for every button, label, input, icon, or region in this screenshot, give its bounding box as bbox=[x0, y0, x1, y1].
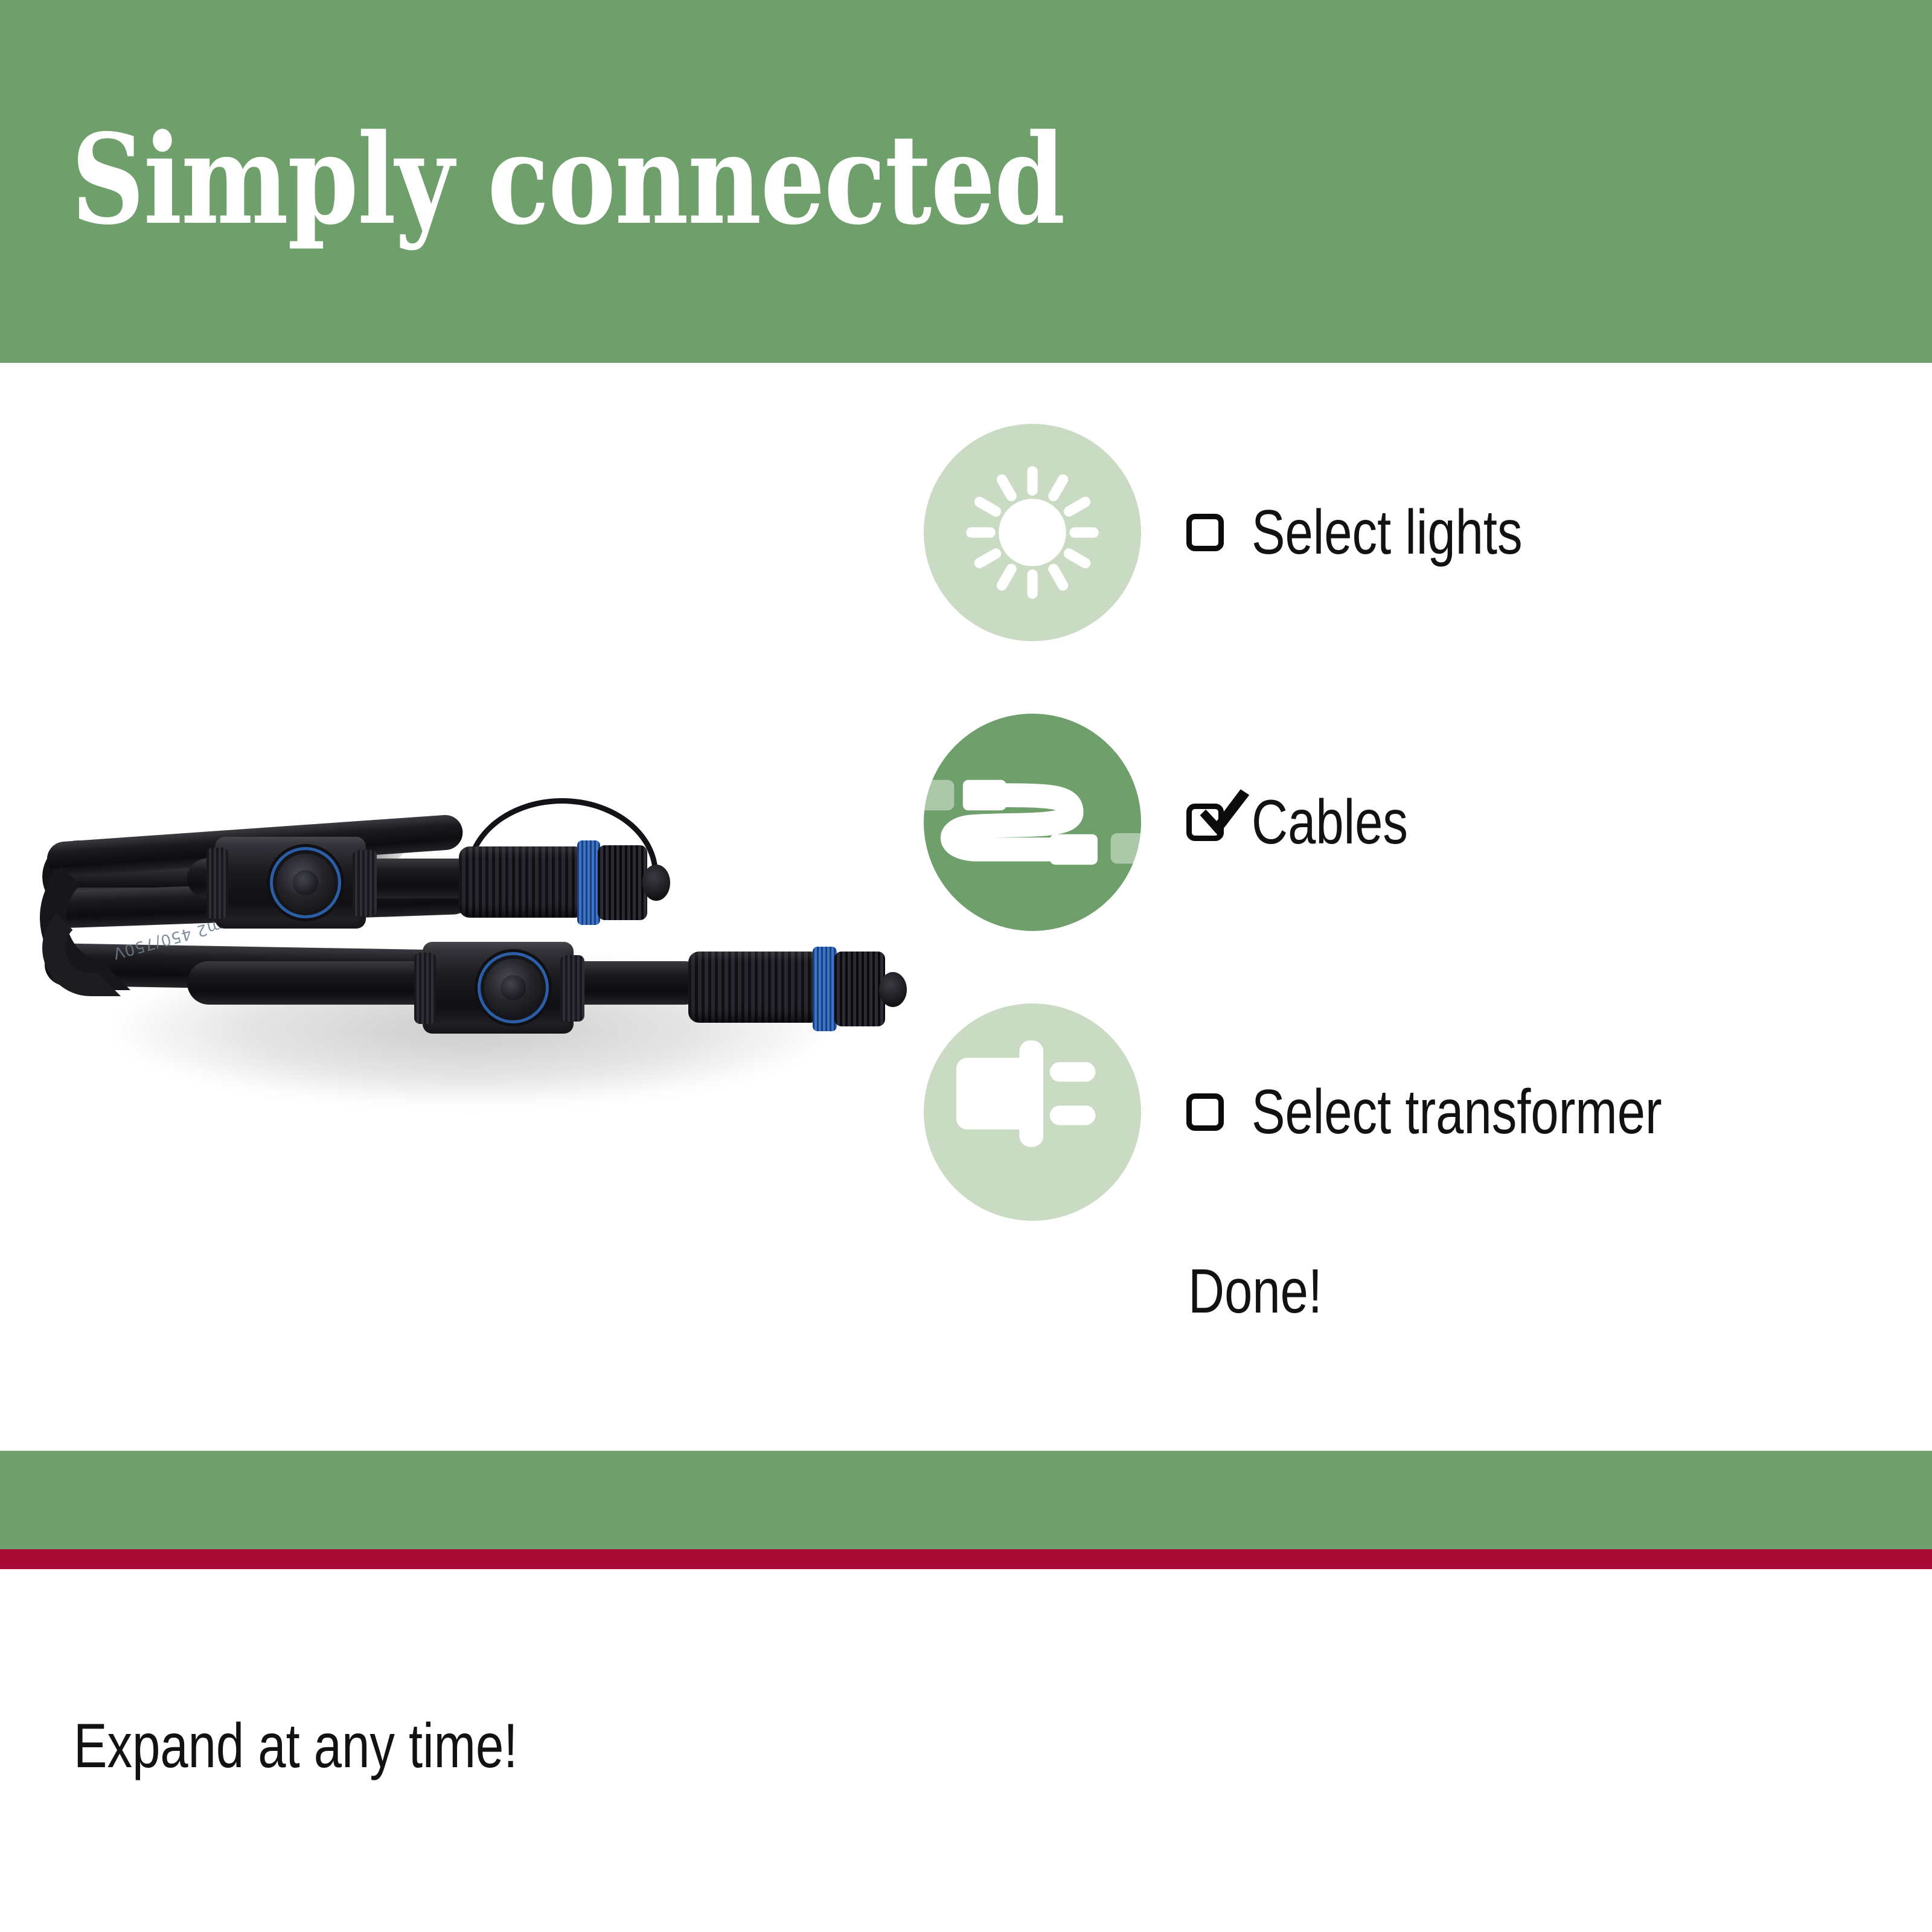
checklist-label-cables: Cables bbox=[1252, 791, 1408, 854]
footer-green-band bbox=[0, 1451, 1932, 1549]
done-label: Done! bbox=[1188, 1260, 1322, 1323]
cable-plug-blue-ring-lower bbox=[813, 947, 837, 1031]
header-band: Simply connected bbox=[0, 0, 1932, 363]
cable-plug-body-lower bbox=[688, 952, 821, 1023]
sun-icon bbox=[924, 424, 1141, 641]
checklist-row-select-lights[interactable]: Select lights bbox=[924, 424, 1829, 641]
cable-junction-dial-lower bbox=[484, 959, 542, 1017]
checkbox-select-transformer[interactable] bbox=[1186, 1093, 1224, 1131]
checklist-row-cables[interactable]: Cables bbox=[924, 714, 1829, 931]
cable-plug-tip-lower bbox=[879, 972, 907, 1007]
sun-icon-circle bbox=[924, 424, 1141, 641]
checklist-label-select-lights: Select lights bbox=[1252, 501, 1523, 564]
cable-plug-cap-lower bbox=[834, 952, 885, 1026]
checklist-row-text: Select transformer bbox=[1186, 1081, 1765, 1144]
checklist-label-select-transformer: Select transformer bbox=[1252, 1081, 1662, 1144]
page-title: Simply connected bbox=[71, 118, 1064, 242]
cable-plug-tip-upper bbox=[642, 865, 670, 901]
cable-icon-circle bbox=[924, 714, 1141, 931]
product-photo: H05RN-F 2x1,5mm2 450/750V bbox=[36, 803, 906, 1141]
cable-plug-blue-ring-upper bbox=[577, 840, 600, 925]
checklist-row-select-transformer[interactable]: Select transformer bbox=[924, 1003, 1829, 1221]
checklist-row-text: Cables bbox=[1186, 791, 1447, 854]
footer-tagline: Expand at any time! bbox=[74, 1715, 517, 1777]
footer-red-band bbox=[0, 1549, 1932, 1569]
cable-junction-collar-upper-right bbox=[353, 850, 377, 916]
checkmark-icon bbox=[1187, 778, 1259, 850]
cable-plug-cap-upper bbox=[598, 845, 647, 920]
cable-junction-dial-upper bbox=[277, 854, 334, 912]
plug-icon bbox=[924, 1003, 1141, 1221]
checklist-row-text: Select lights bbox=[1186, 501, 1590, 564]
checkbox-cables[interactable] bbox=[1186, 804, 1224, 841]
cable-junction-collar-upper-left bbox=[206, 848, 228, 919]
checkbox-select-lights[interactable] bbox=[1186, 514, 1224, 551]
cable-junction-collar-lower-left bbox=[414, 953, 436, 1024]
cable-icon bbox=[924, 714, 1141, 931]
cable-junction-collar-lower-right bbox=[560, 955, 584, 1022]
cable-plug-body-upper bbox=[459, 846, 586, 918]
plug-icon-circle bbox=[924, 1003, 1141, 1221]
